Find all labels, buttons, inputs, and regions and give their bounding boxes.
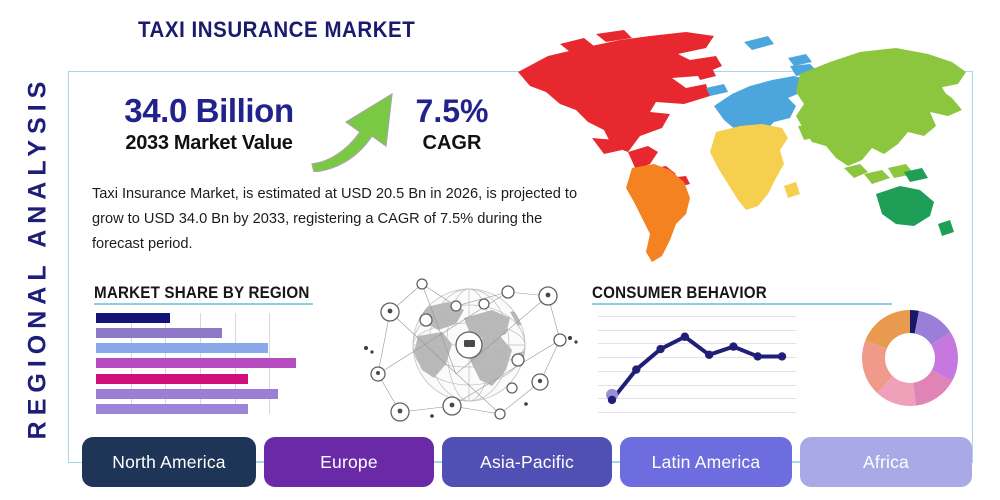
line-data-point [656, 345, 664, 353]
region-button-label: North America [112, 452, 225, 473]
line-chart-series [598, 312, 796, 416]
region-button-label: Asia-Pacific [480, 452, 574, 473]
region-button-latin-america[interactable]: Latin America [620, 437, 792, 487]
consumer-behavior-heading-rule [592, 303, 892, 305]
line-data-point [729, 342, 737, 350]
region-button-label: Latin America [652, 452, 761, 473]
bar [96, 374, 248, 384]
cagr-block: 7.5% CAGR [392, 92, 512, 156]
market-share-heading-rule [94, 303, 313, 305]
region-connector [612, 461, 620, 462]
growth-arrow-icon [306, 88, 402, 172]
bar-row [96, 313, 304, 323]
side-label: REGIONAL ANALYSIS [24, 58, 53, 458]
market-value-block: 34.0 Billion 2033 Market Value [100, 92, 318, 156]
bar-chart-rows [96, 313, 304, 414]
line-data-point [681, 333, 689, 341]
cagr-caption: CAGR [392, 130, 512, 156]
region-button-africa[interactable]: Africa [800, 437, 972, 487]
region-button-label: Europe [320, 452, 378, 473]
market-value: 34.0 Billion [100, 92, 318, 130]
market-share-heading: MARKET SHARE BY REGION [94, 284, 309, 303]
global-network-globe-icon [360, 266, 578, 424]
region-button-europe[interactable]: Europe [264, 437, 434, 487]
page-title: TAXI INSURANCE MARKET [138, 17, 415, 43]
donut-chart [858, 306, 962, 410]
region-button-bar: North AmericaEuropeAsia-PacificLatin Ame… [82, 437, 972, 487]
bar-row [96, 343, 304, 353]
bar-row [96, 328, 304, 338]
bar [96, 404, 248, 414]
bar [96, 358, 296, 368]
market-share-bar-chart [96, 313, 304, 414]
consumer-behavior-line-chart [598, 312, 796, 416]
region-button-asia-pacific[interactable]: Asia-Pacific [442, 437, 612, 487]
market-value-caption: 2033 Market Value [100, 130, 318, 156]
bar-row [96, 404, 304, 414]
donut-segment [865, 310, 910, 349]
region-connector [256, 461, 264, 462]
bar [96, 313, 170, 323]
bar [96, 389, 278, 399]
bar-row [96, 358, 304, 368]
bar [96, 328, 222, 338]
region-connector [792, 461, 800, 462]
description-text: Taxi Insurance Market, is estimated at U… [92, 182, 584, 257]
line-data-point [754, 352, 762, 360]
cagr-value: 7.5% [392, 92, 512, 130]
region-button-north-america[interactable]: North America [82, 437, 256, 487]
line-data-point [632, 365, 640, 373]
kpi-row: 34.0 Billion 2033 Market Value 7.5% CAGR [92, 92, 512, 168]
line-data-point [608, 396, 616, 404]
region-connector [434, 461, 442, 462]
line-data-point [778, 352, 786, 360]
bar [96, 343, 268, 353]
bar-row [96, 389, 304, 399]
consumer-behavior-heading: CONSUMER BEHAVIOR [592, 284, 767, 303]
bar-row [96, 374, 304, 384]
line-data-point [705, 351, 713, 359]
region-button-label: Africa [863, 452, 909, 473]
